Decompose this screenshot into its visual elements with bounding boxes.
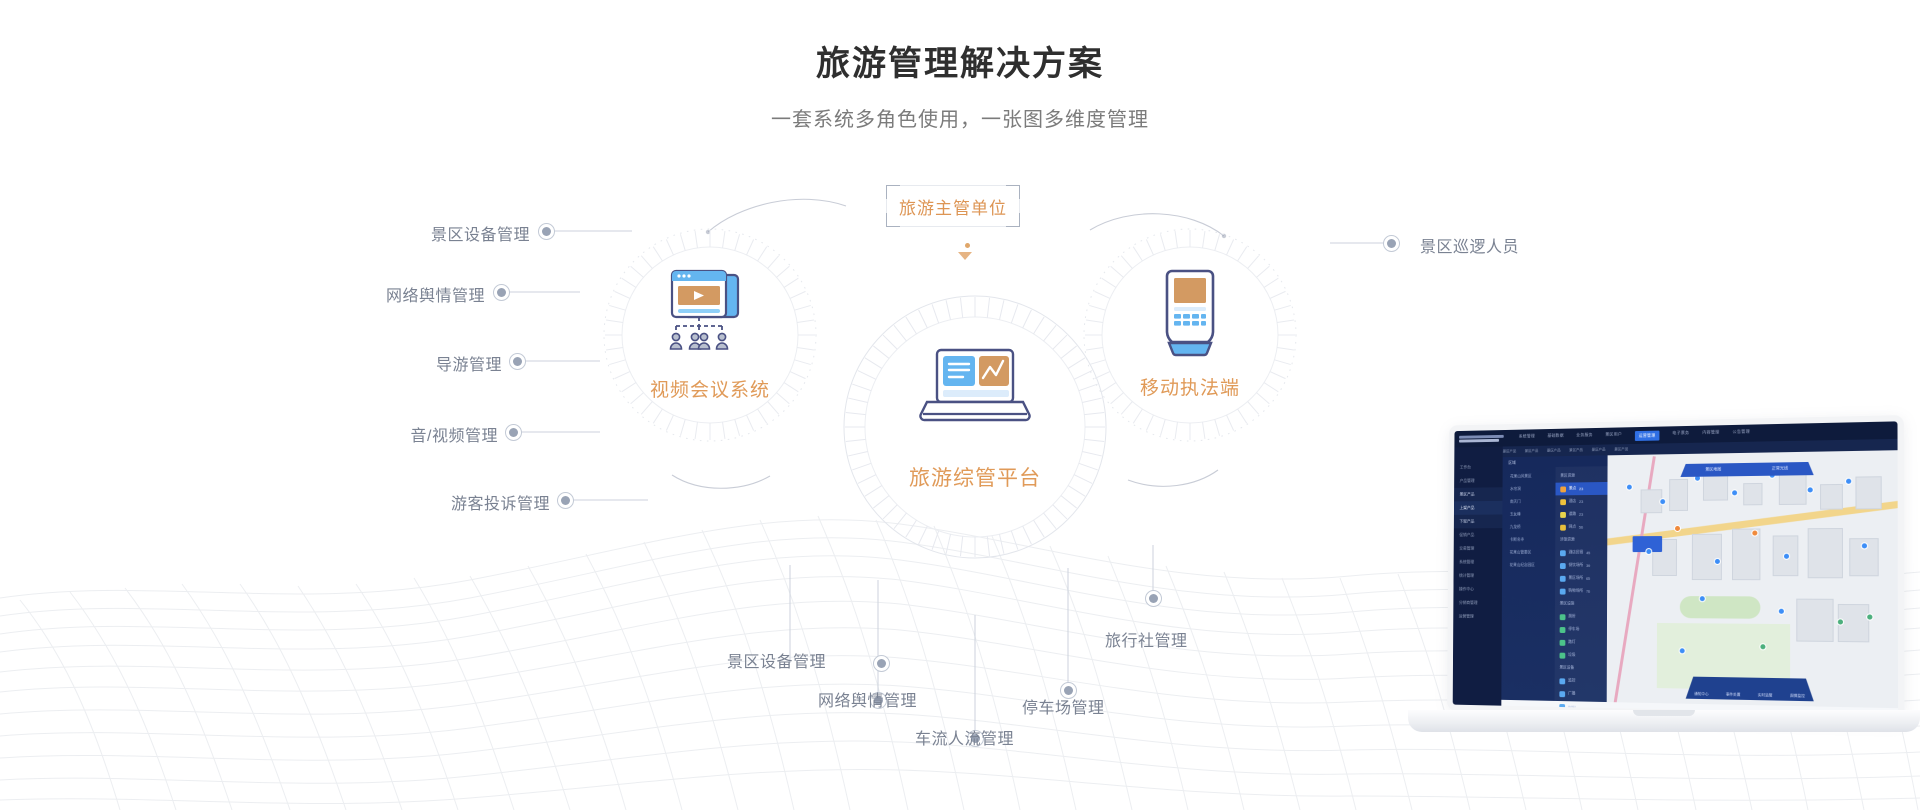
app-region-item-0[interactable]: 水帘洞 [1502,483,1555,496]
right-label-0[interactable]: 景区巡逻人员 [1420,233,1519,257]
left-label-1[interactable]: 网络舆情管理 [255,282,485,306]
left-dot-4[interactable] [557,492,574,509]
map-building [1692,533,1723,580]
app-sidebar-item-11[interactable]: 运营管理 [1453,610,1502,624]
video-window-icon [654,267,766,371]
app-sidebar-item-10[interactable]: 分销商管理 [1453,596,1502,610]
map-pin[interactable] [1784,553,1789,558]
layer-icon-hotel [1560,499,1566,505]
node-label-mobile-enforcement: 移动执法端 [1080,373,1300,400]
app-menu-item-3[interactable]: 景区用户 [1605,431,1622,441]
tag-connector-dot [965,243,970,248]
app-region-column[interactable]: 花果山风景区 水帘洞 南天门 玉女峰 九龙桥 卡斯名寺 花果山管委区 花果山纪念… [1501,467,1555,701]
app-layer-item-8[interactable]: 厕所 [1555,610,1607,623]
layer-icon-camera [1559,678,1565,684]
app-layer-item-3[interactable]: 网点56 [1555,521,1607,534]
layer-icon-trash [1560,652,1566,658]
app-sidebar-item-7[interactable]: 系统管理 [1454,555,1503,569]
app-sidebar-item-0[interactable]: 工作台 [1454,460,1502,474]
left-label-3[interactable]: 音/视频管理 [268,422,498,446]
app-tab-1[interactable]: 景区产品 [1525,449,1539,454]
layer-icon-streetlight [1560,639,1566,645]
app-layer-item-4[interactable]: 酒店民宿45 [1555,546,1607,559]
app-layer-item-1[interactable]: 酒店23 [1555,495,1607,508]
header-block: 旅游管理解决方案 一套系统多角色使用，一张图多维度管理 [0,0,1920,132]
laptop-lid: 系统管理 基础数据 业务服务 景区用户 运营管理 电子票务 内容管理 公告管理 … [1447,415,1904,721]
app-tab-4[interactable]: 景区产品 [1592,447,1606,452]
map-pin-alert[interactable] [1675,526,1680,531]
app-layer-item-0[interactable]: 景点23 [1555,482,1607,495]
left-label-2[interactable]: 导游管理 [272,351,502,375]
layer-icon-scenic [1560,486,1566,492]
tag-arrow-icon [958,252,972,260]
app-sidebar-item-6[interactable]: 交易管理 [1454,542,1503,556]
app-layer-item-5[interactable]: 餐饮场所39 [1555,559,1607,572]
map-pin[interactable] [1646,549,1651,554]
map-toolbar-item-0[interactable]: 景区地图 [1705,467,1721,473]
laptop-notch [1633,710,1695,716]
bottom-label-3[interactable]: 停车场管理 [1022,694,1105,718]
app-tab-0[interactable]: 景区产品 [1503,449,1517,454]
app-logo [1459,432,1504,445]
app-menu-item-5[interactable]: 电子票务 [1672,429,1689,439]
app-layer-section-2: 景区设施 [1555,597,1607,610]
app-region-item-2[interactable]: 玉女峰 [1502,508,1555,521]
map-building [1743,483,1762,505]
right-dot-0[interactable] [1383,235,1400,252]
node-label-tourism-platform: 旅游综管平台 [840,462,1110,492]
layer-icon-broadcast [1559,691,1565,697]
layer-icon-lodging [1560,550,1566,556]
app-layer-item-11[interactable]: 垃圾 [1555,649,1607,663]
left-label-0[interactable]: 景区设备管理 [300,221,530,245]
handheld-device-icon [1150,265,1230,369]
app-region-item-4[interactable]: 卡斯名寺 [1502,534,1555,547]
map-building [1703,473,1728,500]
layer-icon-road [1560,511,1566,517]
laptop-base [1408,710,1920,732]
node-mobile-enforcement[interactable]: 移动执法端 [1080,225,1300,445]
app-region-item-3[interactable]: 九龙桥 [1502,521,1555,534]
map-pin[interactable] [1861,543,1866,548]
app-layer-section-0: 景区资源 [1556,469,1608,483]
map-pin[interactable] [1627,484,1632,489]
map-building [1796,599,1834,642]
app-menu-item-6[interactable]: 内容管理 [1702,429,1719,439]
app-layer-item-2[interactable]: 道路23 [1555,508,1607,521]
map-pin[interactable] [1808,487,1813,492]
laptop-screen: 系统管理 基础数据 业务服务 景区用户 运营管理 电子票务 内容管理 公告管理 … [1453,421,1898,714]
map-building [1778,475,1807,505]
map-pin[interactable] [1778,609,1783,614]
map-pin[interactable] [1732,491,1737,496]
bottom-dot-0[interactable] [873,655,890,672]
app-menu-item-0[interactable]: 系统管理 [1519,433,1535,443]
map-action-1[interactable]: 事件处置 [1726,692,1741,697]
node-video-conference[interactable]: 视频会议系统 [600,225,820,445]
map-building [1855,476,1881,509]
app-sidebar-item-5[interactable]: 促销产品 [1454,528,1503,542]
app-layer-item-9[interactable]: 停车场 [1555,623,1607,636]
map-action-0[interactable]: 通知中心 [1694,692,1708,697]
app-region-group-2[interactable]: 花果山纪念园区 [1502,559,1555,572]
app-tab-3[interactable]: 景区产品 [1569,448,1583,453]
map-action-3[interactable]: 舆情监控 [1790,694,1805,699]
app-sidebar-item-9[interactable]: 操作中心 [1453,582,1502,596]
map-pin[interactable] [1715,559,1720,564]
map-action-2[interactable]: 实时监管 [1758,693,1773,698]
bottom-label-4[interactable]: 旅行社管理 [1105,627,1188,651]
bottom-label-0[interactable]: 景区设备管理 [727,648,826,672]
layer-icon-toilet [1560,614,1566,620]
poster-canvas: 旅游管理解决方案 一套系统多角色使用，一张图多维度管理 [0,0,1920,810]
map-building [1641,489,1663,514]
app-tab-2[interactable]: 景区产品 [1547,448,1561,453]
app-region-item-1[interactable]: 南天门 [1502,495,1555,508]
app-top-menu[interactable]: 系统管理 基础数据 业务服务 景区用户 运营管理 电子票务 内容管理 公告管理 [1519,428,1750,443]
layer-icon-parking [1560,627,1566,633]
app-layer-column[interactable]: 景区资源 景点23 酒店23 道路23 网点56 涉旅资源 酒店民宿45 餐饮场… [1555,466,1608,702]
layer-icon-shopping [1560,588,1566,594]
left-dot-2[interactable] [509,353,526,370]
app-sidebar-item-1[interactable]: 产品管理 [1454,474,1502,488]
top-authority-tag-label: 旅游主管单位 [899,194,1007,219]
left-dot-3[interactable] [505,424,522,441]
left-label-4[interactable]: 游客投诉管理 [320,490,550,514]
app-layer-panel[interactable]: 区域 花果山风景区 水帘洞 南天门 玉女峰 九龙桥 卡斯名寺 花果山管委区 花果… [1501,455,1607,702]
map-building [1669,479,1688,511]
app-layer-item-6[interactable]: 景区场所65 [1555,572,1607,585]
map-building [1820,484,1843,509]
bottom-label-2[interactable]: 车流人流管理 [915,725,1014,749]
layer-icon-wifi [1559,704,1565,710]
page-subtitle: 一套系统多角色使用，一张图多维度管理 [0,103,1920,132]
map-pin[interactable] [1846,479,1851,484]
bottom-label-1[interactable]: 网络舆情管理 [818,687,917,711]
left-dot-1[interactable] [493,284,510,301]
app-map-view[interactable]: 景区地图 正常光线 通知中心 事件处置 实时监管 舆情监控 [1607,450,1898,708]
top-authority-tag[interactable]: 旅游主管单位 [886,185,1020,227]
app-region-group-0[interactable]: 花果山风景区 [1503,470,1556,483]
map-toolbar[interactable]: 景区地图 正常光线 [1680,462,1813,477]
laptop-mockup: 系统管理 基础数据 业务服务 景区用户 运营管理 电子票务 内容管理 公告管理 … [1408,410,1920,810]
layer-icon-network [1560,524,1566,530]
map-building [1732,528,1760,581]
app-sidebar-item-8[interactable]: 统计管理 [1454,569,1503,583]
map-bottom-actions[interactable]: 通知中心 事件处置 实时监管 舆情监控 [1686,677,1814,702]
node-label-video-conference: 视频会议系统 [600,375,820,402]
map-pin[interactable] [1695,476,1700,481]
app-region-group-1[interactable]: 花果山管委区 [1502,546,1555,559]
map-building [1808,528,1843,579]
map-pin[interactable] [1661,499,1666,504]
app-menu-item-1[interactable]: 基础数据 [1547,432,1563,442]
app-tab-5[interactable]: 景区产品 [1614,447,1628,452]
bottom-dot-4[interactable] [1145,590,1162,607]
map-green-strip [1680,596,1761,619]
app-sidebar[interactable]: 工作台 产品管理 景区产品 上架产品 下架产品 促销产品 交易管理 系统管理 统… [1453,447,1503,706]
app-layer-section-1: 涉旅资源 [1555,533,1607,546]
laptop-dashboard-icon [913,344,1037,440]
app-sidebar-item-2[interactable]: 景区产品 [1454,487,1502,501]
app-menu-item-2[interactable]: 业务服务 [1576,432,1593,442]
app-sidebar-item-4[interactable]: 下架产品 [1454,514,1503,528]
app-menu-item-7[interactable]: 公告管理 [1733,428,1750,438]
map-pin-green[interactable] [1868,615,1873,620]
app-menu-item-4[interactable]: 运营管理 [1635,430,1660,440]
app-layer-item-10[interactable]: 路灯 [1555,636,1607,649]
app-sidebar-item-3[interactable]: 上架产品 [1454,501,1503,515]
app-layer-item-13[interactable]: 广播 [1555,687,1607,701]
app-layer-item-12[interactable]: 监控 [1555,674,1607,688]
layer-icon-venue [1560,575,1566,581]
node-tourism-platform[interactable]: 旅游综管平台 [840,292,1110,562]
layer-icon-dining [1560,563,1566,569]
page-title: 旅游管理解决方案 [0,44,1920,85]
left-dot-0[interactable] [538,223,555,240]
app-layer-item-7[interactable]: 购物场所76 [1555,585,1607,598]
app-layer-section-3: 景区设备 [1555,661,1607,675]
map-toolbar-item-1[interactable]: 正常光线 [1772,466,1788,472]
